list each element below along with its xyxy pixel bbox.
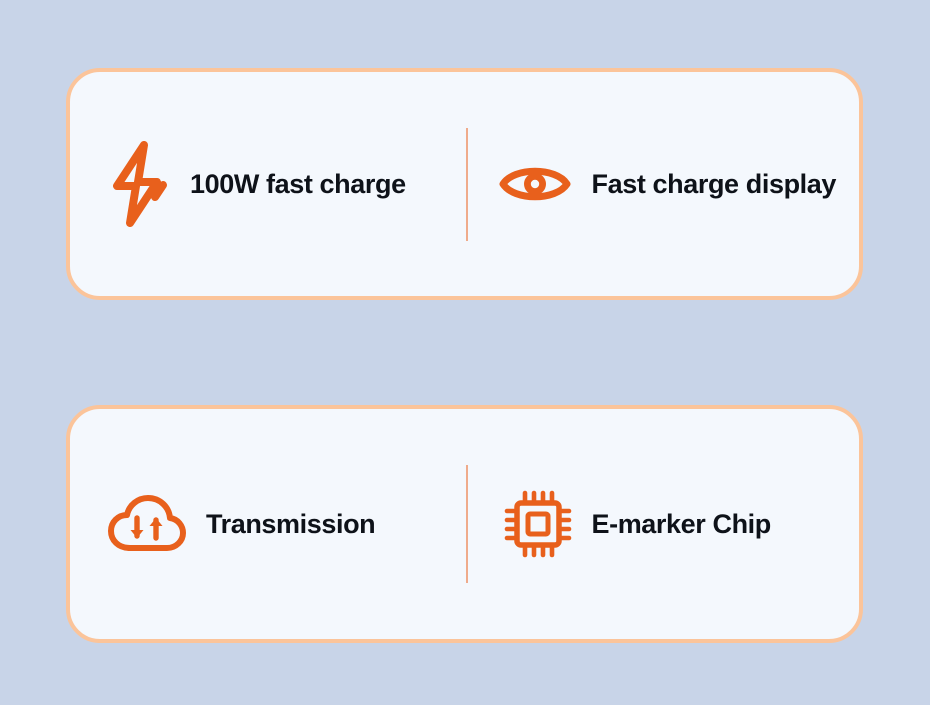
feature-item-transmission: Transmission [70, 409, 466, 639]
charging-features-card: 100W fast charge Fast charge display [66, 68, 863, 300]
feature-item-fast-charge-display: Fast charge display [468, 72, 860, 296]
eye-icon [498, 160, 572, 208]
feature-label: Fast charge display [592, 169, 837, 200]
chip-icon [504, 490, 572, 558]
feature-label: Transmission [206, 509, 375, 540]
feature-label: E-marker Chip [592, 509, 771, 540]
feature-board: 100W fast charge Fast charge display [0, 0, 930, 705]
cloud-transfer-icon [106, 493, 188, 555]
data-features-card: Transmission [66, 405, 863, 643]
lightning-bolt-icon [108, 141, 170, 227]
feature-item-fast-charge: 100W fast charge [70, 72, 466, 296]
feature-item-emarker-chip: E-marker Chip [468, 409, 860, 639]
feature-label: 100W fast charge [190, 169, 406, 200]
